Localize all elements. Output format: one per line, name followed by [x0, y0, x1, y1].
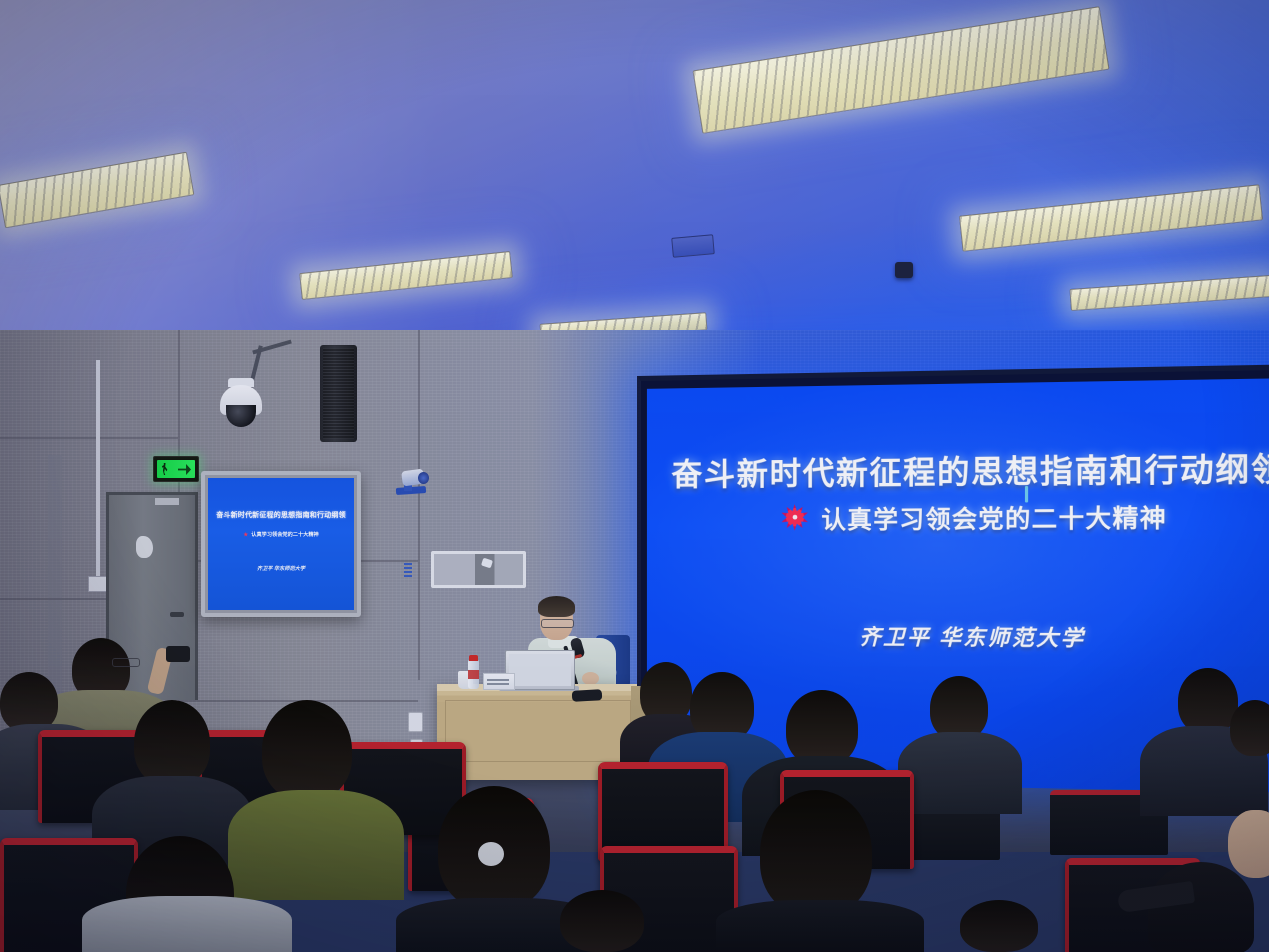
dome-security-camera-icon [220, 385, 262, 415]
starburst-icon [781, 504, 808, 530]
audience-head [560, 890, 644, 952]
slide-subtitle-row: 认真学习领会党的二十大精神 [647, 496, 1269, 536]
audience-shoulders [228, 790, 404, 900]
starburst-icon [243, 532, 248, 537]
audience-head [960, 900, 1038, 952]
wall-seam [418, 330, 420, 680]
door-scuff-mark [136, 536, 153, 558]
wall-marking [404, 563, 412, 577]
microphone-base [572, 689, 603, 702]
ceiling-sensor-icon [895, 262, 913, 278]
lecture-hall-photo: 奋斗新时代新征程的思想指南和行动纲领 认真学习领会党的二十大精神 齐卫平 华东师… [0, 0, 1269, 952]
side-display[interactable]: 奋斗新时代新征程的思想指南和行动纲领 认真学习领会党的二十大精神 齐卫平 华东师… [201, 471, 361, 617]
audience-head [786, 690, 858, 766]
conduit-pipe [96, 486, 100, 581]
bottle-label [468, 670, 479, 679]
side-display-presenter: 齐卫平 华东师范大学 [208, 565, 354, 572]
audience-shoulders [716, 900, 924, 952]
audience-head [262, 700, 352, 800]
conduit-pipe [96, 360, 100, 490]
laptop-icon[interactable] [505, 650, 575, 690]
audience-head [134, 700, 210, 786]
side-display-subtitle: 认真学习领会党的二十大精神 [208, 531, 354, 538]
ptz-camera-lens-icon [418, 472, 429, 484]
side-display-title: 奋斗新时代新征程的思想指南和行动纲领 [208, 510, 354, 520]
glasses-icon [112, 658, 140, 667]
control-room-window [431, 551, 526, 588]
slide-title: 奋斗新时代新征程的思想指南和行动纲领 [647, 442, 1269, 495]
name-card [483, 673, 515, 690]
wall-speaker [320, 345, 357, 442]
ceiling-vent [671, 234, 715, 258]
audience-head [1230, 700, 1269, 756]
slide-subtitle: 认真学习领会党的二十大精神 [821, 497, 1167, 535]
junction-box [88, 576, 108, 592]
audience-shoulders [82, 896, 292, 952]
audience-shoulders [898, 732, 1022, 814]
smartphone-icon [166, 646, 190, 662]
wall-pillar [48, 455, 62, 705]
presenter-hair [538, 596, 575, 617]
podium-front-panel [445, 700, 631, 762]
door-handle[interactable] [170, 612, 184, 617]
door-push-plate [155, 498, 179, 505]
wall-seam [0, 437, 178, 439]
audience-head [930, 676, 988, 740]
power-outlet[interactable] [408, 712, 423, 732]
bottle-cap [469, 655, 478, 661]
hair-tie-icon [478, 842, 504, 866]
glasses-icon [541, 619, 574, 628]
side-display-screen: 奋斗新时代新征程的思想指南和行动纲领 认真学习领会党的二十大精神 齐卫平 华东师… [208, 478, 354, 610]
audience-head [760, 790, 872, 916]
side-display-subtitle-text: 认真学习领会党的二十大精神 [251, 532, 318, 538]
emergency-exit-sign [153, 456, 199, 482]
audience-cap-icon [1148, 862, 1254, 952]
slide-presenter: 齐卫平 华东师范大学 [647, 620, 1269, 654]
audience-head [0, 672, 58, 732]
exit-running-man-icon [157, 460, 195, 478]
audience-head [1228, 810, 1269, 878]
audience-head [1178, 668, 1238, 734]
